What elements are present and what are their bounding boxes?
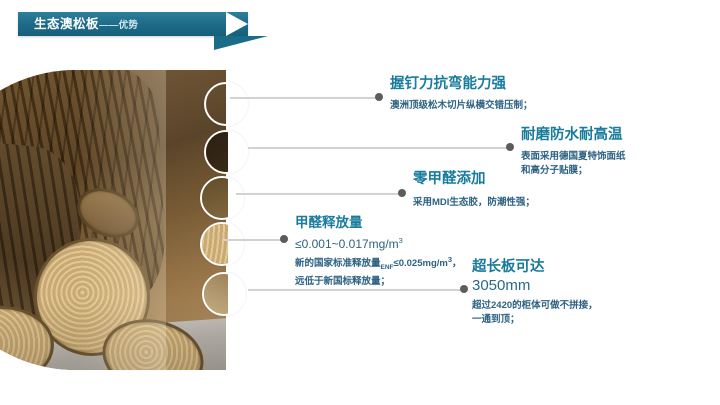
banner-subtitle: ——优势 [99, 20, 138, 31]
bubble-image-5 [202, 272, 228, 316]
callout-bubble-5[interactable] [202, 272, 246, 316]
callout-bubble-2[interactable] [204, 130, 248, 174]
connector-line-5 [248, 289, 464, 291]
callout-title-2: 耐磨防水耐高温 [521, 126, 626, 145]
callout-desc-2-line-2: 和高分子贴膜； [521, 164, 626, 178]
callout-title-3: 零甲醛添加 [413, 170, 535, 189]
callout-desc-5-line-2: 一通到顶； [472, 313, 598, 327]
photo-background [0, 70, 226, 370]
callout-text-2: 耐磨防水耐高温 表面采用德国夏特饰面纸 和高分子贴膜； [521, 126, 626, 178]
connector-line-1 [230, 97, 380, 99]
callout-value-4: ≤0.001~0.017mg/m3 [295, 233, 462, 252]
photo-log-c [95, 310, 210, 370]
bubble-image-2 [204, 130, 228, 174]
connector-dot-2 [506, 143, 514, 151]
callout-value-4-number: 0.001~0.017mg/m [302, 237, 399, 251]
callout-desc-4-line-2: 远低于新国标释放量； [295, 275, 462, 289]
photo-bark-small [0, 137, 89, 332]
photo-log-a [26, 231, 157, 364]
callout-text-5: 超长板可达 3050mm 超过2420的柜体可做不拼接， 一通到顶； [472, 258, 598, 327]
callout-desc-4-text-c: ， [452, 258, 462, 269]
ribbon-text: 生态澳松板——优势 [34, 15, 138, 35]
callout-desc-3-line-1: 采用MDI生态胶，防潮性强； [413, 196, 535, 210]
connector-dot-1 [375, 93, 383, 101]
callout-title-5: 超长板可达 [472, 258, 598, 277]
callout-desc-4-text-b: ≤0.025mg/m [394, 258, 448, 269]
connector-line-2 [248, 147, 510, 149]
callout-desc-2-line-1: 表面采用德国夏特饰面纸 [521, 150, 626, 164]
callout-desc-4-line-1: 新的国家标准释放量ENF≤0.025mg/m3， [295, 253, 462, 275]
connector-line-4 [222, 239, 284, 241]
bubble-image-3 [200, 176, 228, 220]
callout-desc-4-text-a: 新的国家标准释放量 [295, 258, 381, 269]
ribbon-banner: 生态澳松板——优势 [18, 12, 270, 50]
callout-text-4: 甲醛释放量 ≤0.001~0.017mg/m3 新的国家标准释放量ENF≤0.0… [295, 213, 462, 289]
ribbon-tail [214, 36, 268, 50]
photo-edge-gloss [76, 70, 166, 370]
callout-bubble-3[interactable] [200, 176, 244, 220]
connector-dot-4 [280, 235, 288, 243]
callout-bubble-1[interactable] [204, 82, 248, 126]
bubble-image-1 [204, 82, 228, 126]
photo-ground [0, 317, 226, 370]
callout-bubble-4[interactable] [200, 222, 244, 266]
callout-desc-4-subscript: ENF [381, 264, 394, 271]
callout-desc-1-line-1: 澳洲顶级松木切片纵横交错压制； [390, 99, 533, 113]
callout-text-1: 握钉力抗弯能力强 澳洲顶级松木切片纵横交错压制； [390, 75, 533, 113]
callout-text-3: 零甲醛添加 采用MDI生态胶，防潮性强； [413, 170, 535, 210]
bubble-image-4 [200, 222, 228, 266]
photo-inner [0, 70, 226, 370]
callout-desc-5-line-1: 超过2420的柜体可做不拼接， [472, 299, 598, 313]
callout-number-5: 3050mm [472, 277, 598, 295]
photo-bark-large [0, 70, 168, 319]
connector-line-3 [236, 193, 402, 195]
callout-title-4: 甲醛释放量 [295, 213, 462, 232]
callout-title-1: 握钉力抗弯能力强 [390, 75, 533, 94]
ribbon-notch [226, 12, 248, 36]
callout-value-4-exponent: 3 [399, 236, 403, 245]
callout-value-4-prefix: ≤ [295, 237, 302, 251]
photo-bottom-shade [0, 300, 226, 370]
slide-canvas: 生态澳松板——优势 [0, 0, 720, 405]
photo-log-d [69, 179, 146, 247]
connector-dot-3 [398, 189, 406, 197]
product-photo [0, 70, 226, 370]
banner-title: 生态澳松板 [34, 17, 99, 31]
